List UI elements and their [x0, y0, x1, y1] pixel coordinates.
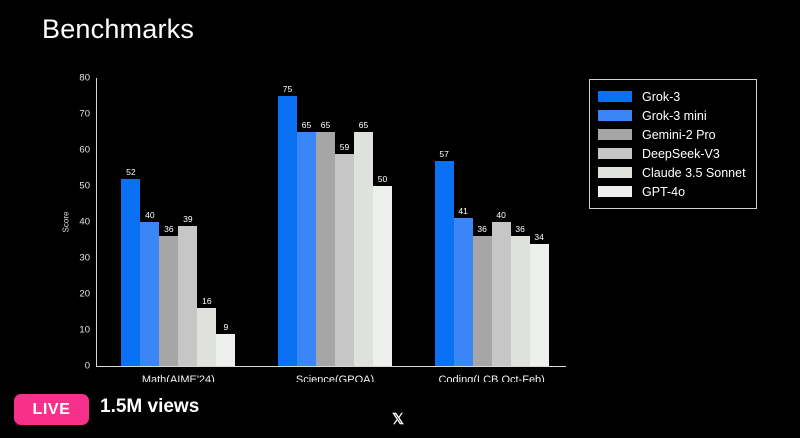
bar-column[interactable]: 75 [278, 78, 297, 366]
bar-value-label: 75 [283, 84, 292, 94]
bar-column[interactable]: 34 [530, 78, 549, 366]
bar[interactable]: 40 [140, 222, 159, 366]
bar-column[interactable]: 16 [197, 78, 216, 366]
bar-value-label: 34 [534, 232, 543, 242]
legend-label: GPT-4o [642, 185, 685, 199]
bar-value-label: 59 [340, 142, 349, 152]
bar-group: 756565596550 [278, 78, 392, 366]
bar-column[interactable]: 50 [373, 78, 392, 366]
y-axis-tick: 60 [79, 145, 90, 156]
legend-label: DeepSeek-V3 [642, 147, 720, 161]
legend-color-swatch [598, 167, 632, 178]
bar-column[interactable]: 59 [335, 78, 354, 366]
y-axis-tick: 80 [79, 73, 90, 84]
bar-value-label: 65 [359, 120, 368, 130]
legend-color-swatch [598, 129, 632, 140]
bar[interactable]: 59 [335, 154, 354, 366]
bar-value-label: 36 [477, 224, 486, 234]
bar-group: 574136403634 [435, 78, 549, 366]
bar-column[interactable]: 41 [454, 78, 473, 366]
legend-item[interactable]: DeepSeek-V3 [598, 144, 746, 163]
bar-column[interactable]: 65 [297, 78, 316, 366]
y-axis-label: Score [62, 212, 71, 233]
bar-column[interactable]: 52 [121, 78, 140, 366]
legend-color-swatch [598, 148, 632, 159]
bar[interactable]: 39 [178, 226, 197, 366]
y-axis-tick: 0 [85, 361, 90, 372]
bar[interactable]: 36 [159, 236, 178, 366]
bar-column[interactable]: 39 [178, 78, 197, 366]
bar-value-label: 57 [439, 149, 448, 159]
bar-value-label: 40 [496, 210, 505, 220]
bar-value-label: 41 [458, 206, 467, 216]
bar[interactable]: 57 [435, 161, 454, 366]
bar-value-label: 36 [515, 224, 524, 234]
bar[interactable]: 65 [297, 132, 316, 366]
benchmark-bar-chart: Score 01020304050607080 5240363916975656… [0, 60, 580, 380]
bar[interactable]: 41 [454, 218, 473, 366]
legend-label: Gemini-2 Pro [642, 128, 716, 142]
y-axis-tick: 10 [79, 325, 90, 336]
bar-value-label: 16 [202, 296, 211, 306]
bar[interactable]: 36 [473, 236, 492, 366]
live-badge: LIVE [14, 394, 89, 425]
bar-column[interactable]: 36 [159, 78, 178, 366]
y-axis-tick: 20 [79, 289, 90, 300]
legend-color-swatch [598, 186, 632, 197]
y-axis-tick: 50 [79, 181, 90, 192]
legend-item[interactable]: Gemini-2 Pro [598, 125, 746, 144]
bar-column[interactable]: 57 [435, 78, 454, 366]
bar-value-label: 65 [321, 120, 330, 130]
y-axis-tick: 40 [79, 217, 90, 228]
bar-value-label: 65 [302, 120, 311, 130]
bar[interactable]: 40 [492, 222, 511, 366]
legend-label: Grok-3 [642, 90, 680, 104]
page-title: Benchmarks [42, 14, 194, 45]
bar-column[interactable]: 65 [316, 78, 335, 366]
bar-column[interactable]: 36 [511, 78, 530, 366]
bar[interactable]: 50 [373, 186, 392, 366]
y-axis-tick: 70 [79, 109, 90, 120]
bar[interactable]: 9 [216, 334, 235, 366]
bar-value-label: 9 [223, 322, 228, 332]
bar-column[interactable]: 9 [216, 78, 235, 366]
bar[interactable]: 34 [530, 244, 549, 366]
bar[interactable]: 65 [354, 132, 373, 366]
legend-item[interactable]: GPT-4o [598, 182, 746, 201]
bar-group: 52403639169 [121, 78, 235, 366]
legend-item[interactable]: Grok-3 mini [598, 106, 746, 125]
bar[interactable]: 36 [511, 236, 530, 366]
y-axis-tick: 30 [79, 253, 90, 264]
bar[interactable]: 75 [278, 96, 297, 366]
bar-value-label: 39 [183, 214, 192, 224]
bar-column[interactable]: 40 [140, 78, 159, 366]
legend-label: Grok-3 mini [642, 109, 707, 123]
bar-column[interactable]: 36 [473, 78, 492, 366]
plot-area: 52403639169756565596550574136403634 [96, 78, 566, 366]
bar[interactable]: 52 [121, 179, 140, 366]
legend-label: Claude 3.5 Sonnet [642, 166, 746, 180]
bar[interactable]: 16 [197, 308, 216, 366]
bar-column[interactable]: 40 [492, 78, 511, 366]
x-logo-icon: 𝕏 [392, 410, 403, 428]
chart-legend: Grok-3Grok-3 miniGemini-2 ProDeepSeek-V3… [589, 79, 757, 209]
bar-value-label: 36 [164, 224, 173, 234]
view-count: 1.5M views [100, 396, 199, 418]
legend-item[interactable]: Claude 3.5 Sonnet [598, 163, 746, 182]
legend-item[interactable]: Grok-3 [598, 87, 746, 106]
bar-value-label: 50 [378, 174, 387, 184]
bar-value-label: 52 [126, 167, 135, 177]
bar-column[interactable]: 65 [354, 78, 373, 366]
bar-value-label: 40 [145, 210, 154, 220]
legend-color-swatch [598, 110, 632, 121]
legend-color-swatch [598, 91, 632, 102]
bar[interactable]: 65 [316, 132, 335, 366]
